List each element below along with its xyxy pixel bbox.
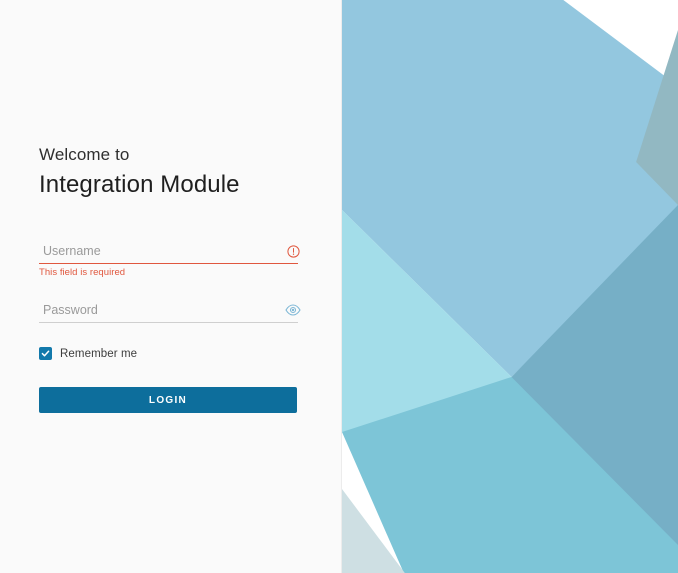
username-error-message: This field is required (39, 267, 298, 279)
fields-group: This field is required (39, 242, 298, 413)
field-spacer (39, 279, 298, 301)
login-button[interactable]: LOGIN (39, 387, 297, 413)
welcome-text: Welcome to (39, 144, 298, 166)
error-circle-icon (283, 241, 303, 261)
password-field[interactable] (39, 301, 298, 323)
abstract-polygon-artwork (342, 0, 678, 573)
username-field[interactable] (39, 242, 298, 264)
remember-me-row[interactable]: Remember me (39, 347, 298, 360)
eye-icon[interactable] (283, 300, 303, 320)
remember-me-checkbox[interactable] (39, 347, 52, 360)
remember-me-label: Remember me (60, 348, 137, 360)
login-form: Welcome to Integration Module This field… (39, 144, 298, 413)
login-panel: Welcome to Integration Module This field… (0, 0, 341, 573)
username-input[interactable] (43, 244, 283, 258)
login-screen: Welcome to Integration Module This field… (0, 0, 678, 573)
password-input[interactable] (43, 303, 283, 317)
app-title: Integration Module (39, 170, 298, 200)
decorative-artwork-panel (341, 0, 678, 573)
